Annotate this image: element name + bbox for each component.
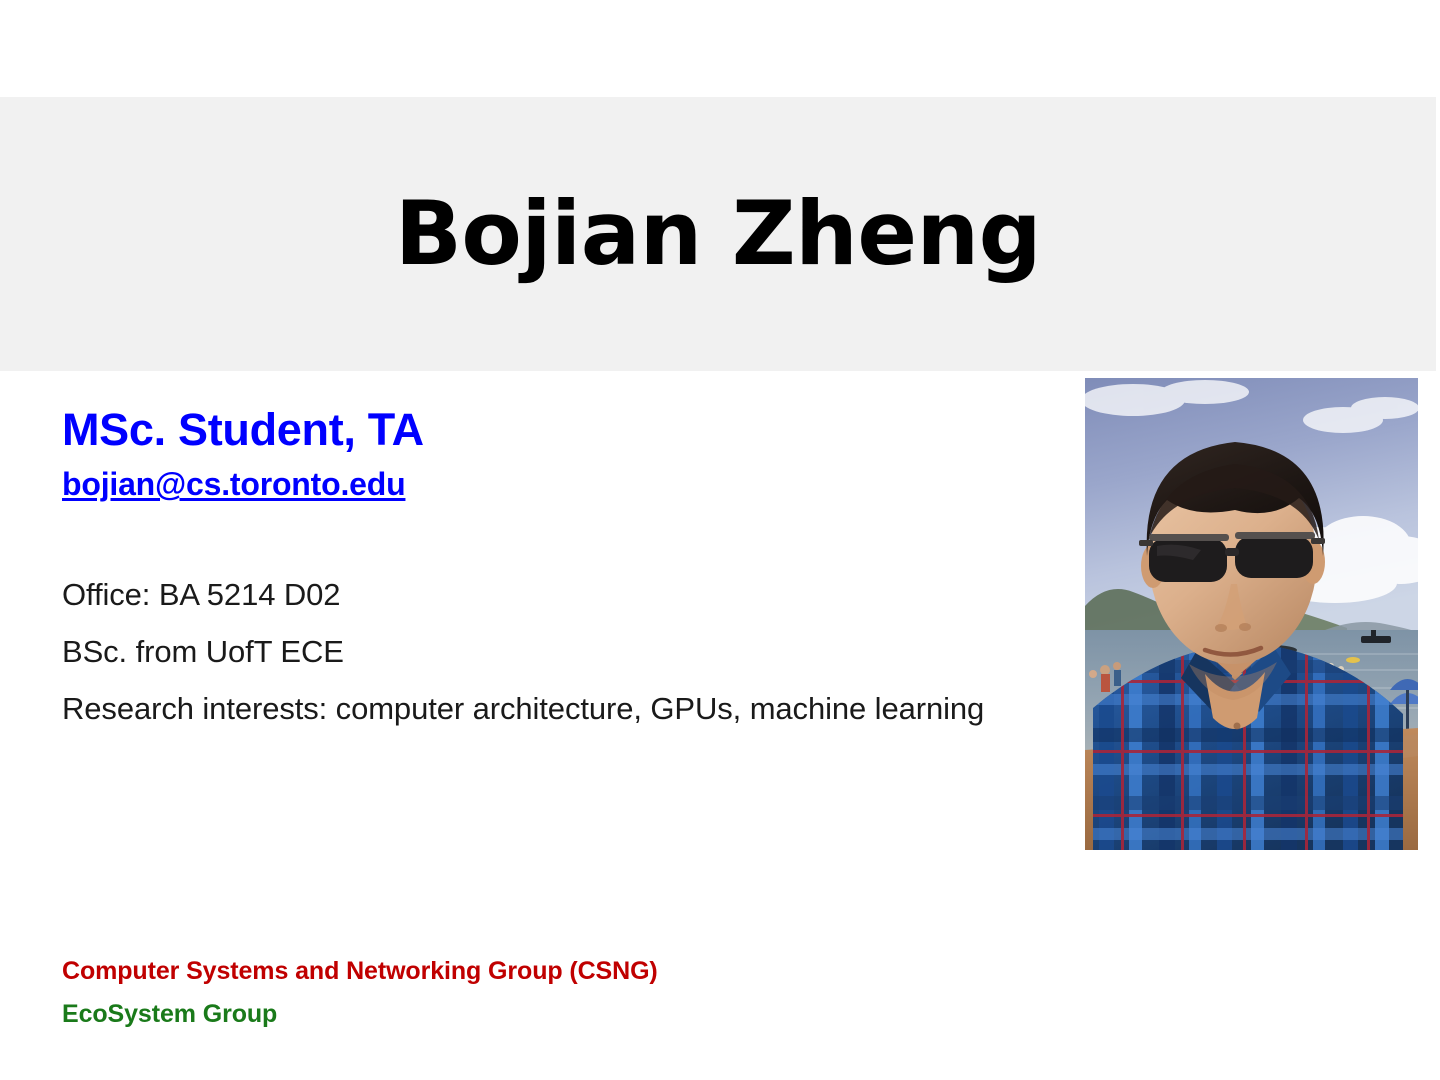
affiliations-block: Computer Systems and Networking Group (C… [62, 950, 658, 1036]
email-link[interactable]: bojian@cs.toronto.edu [62, 467, 405, 502]
profile-role: MSc. Student, TA [62, 405, 1042, 455]
affiliation-csng: Computer Systems and Networking Group (C… [62, 950, 658, 993]
profile-details: Office: BA 5214 D02 BSc. from UofT ECE R… [62, 571, 1042, 732]
slide-canvas: Bojian Zheng MSc. Student, TA bojian@cs.… [0, 0, 1440, 1080]
detail-office: Office: BA 5214 D02 [62, 571, 1022, 618]
title-band: Bojian Zheng [0, 97, 1436, 371]
detail-degree: BSc. from UofT ECE [62, 628, 1022, 675]
detail-research-interests: Research interests: computer architectur… [62, 685, 1022, 732]
email-line: bojian@cs.toronto.edu [62, 467, 1042, 502]
page-title: Bojian Zheng [0, 97, 1436, 371]
portrait-photo-image [1085, 378, 1418, 850]
profile-content: MSc. Student, TA bojian@cs.toronto.edu O… [62, 405, 1042, 742]
portrait-photo [1085, 378, 1418, 850]
affiliation-ecosystem: EcoSystem Group [62, 993, 658, 1036]
